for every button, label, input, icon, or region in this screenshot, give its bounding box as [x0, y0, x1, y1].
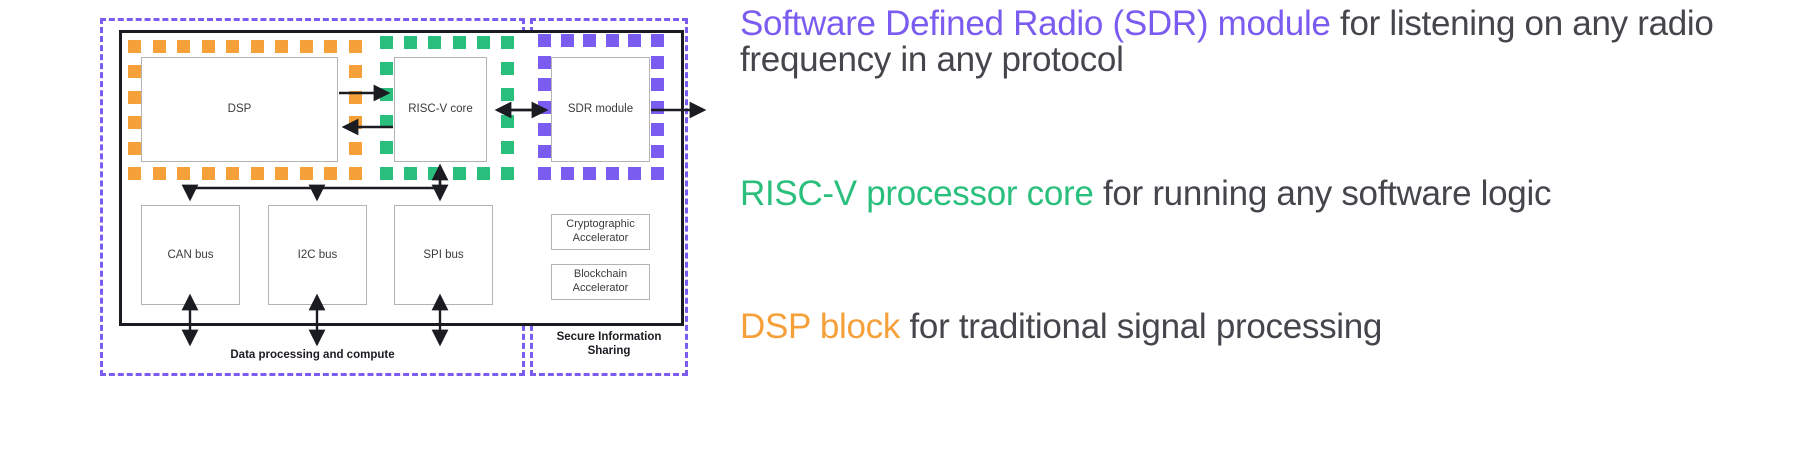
block-spi-bus-label: SPI bus [423, 248, 463, 262]
block-i2c-bus[interactable]: I2C bus [268, 205, 367, 305]
bullet-dsp-highlight: DSP block [740, 307, 900, 346]
block-dsp-label: DSP [228, 102, 252, 116]
caption-secure-information-sharing: Secure Information Sharing [535, 330, 683, 359]
block-dsp[interactable]: DSP [141, 57, 338, 162]
block-blockchain-accelerator[interactable]: Blockchain Accelerator [551, 264, 650, 300]
secure-caption-line-1: Secure Information [557, 331, 662, 343]
block-riscv-core-label: RISC-V core [408, 102, 473, 116]
bullet-riscv-rest: for running any software logic [1094, 174, 1552, 213]
block-can-bus-label: CAN bus [167, 248, 213, 262]
blockchain-line-2: Accelerator [573, 282, 629, 294]
slide-root: DSP RISC-V core SDR module CAN bus I2C b… [0, 0, 1800, 450]
bullet-sdr-module: Software Defined Radio (SDR) module for … [740, 6, 1760, 77]
blockchain-line-1: Blockchain [574, 268, 627, 280]
bullet-dsp-rest: for traditional signal processing [900, 307, 1382, 346]
crypto-line-2: Accelerator [573, 232, 629, 244]
bullet-dsp-block: DSP block for traditional signal process… [740, 309, 1760, 345]
block-i2c-bus-label: I2C bus [298, 248, 338, 262]
secure-caption-line-2: Sharing [588, 345, 631, 357]
block-cryptographic-accelerator[interactable]: Cryptographic Accelerator [551, 214, 650, 250]
soc-block-diagram: DSP RISC-V core SDR module CAN bus I2C b… [0, 0, 730, 450]
block-blockchain-accelerator-label: Blockchain Accelerator [573, 268, 629, 296]
caption-data-processing-and-compute: Data processing and compute [140, 348, 485, 362]
block-riscv-core[interactable]: RISC-V core [394, 57, 487, 162]
block-can-bus[interactable]: CAN bus [141, 205, 240, 305]
bullet-riscv-highlight: RISC-V processor core [740, 174, 1094, 213]
block-spi-bus[interactable]: SPI bus [394, 205, 493, 305]
bullet-sdr-highlight: Software Defined Radio (SDR) module [740, 4, 1331, 43]
block-sdr-module-label: SDR module [568, 102, 633, 116]
crypto-line-1: Cryptographic [566, 218, 634, 230]
block-sdr-module[interactable]: SDR module [551, 57, 650, 162]
bullet-riscv-core: RISC-V processor core for running any so… [740, 176, 1760, 212]
bullet-text-pane: Software Defined Radio (SDR) module for … [730, 0, 1800, 450]
block-cryptographic-accelerator-label: Cryptographic Accelerator [566, 218, 634, 246]
